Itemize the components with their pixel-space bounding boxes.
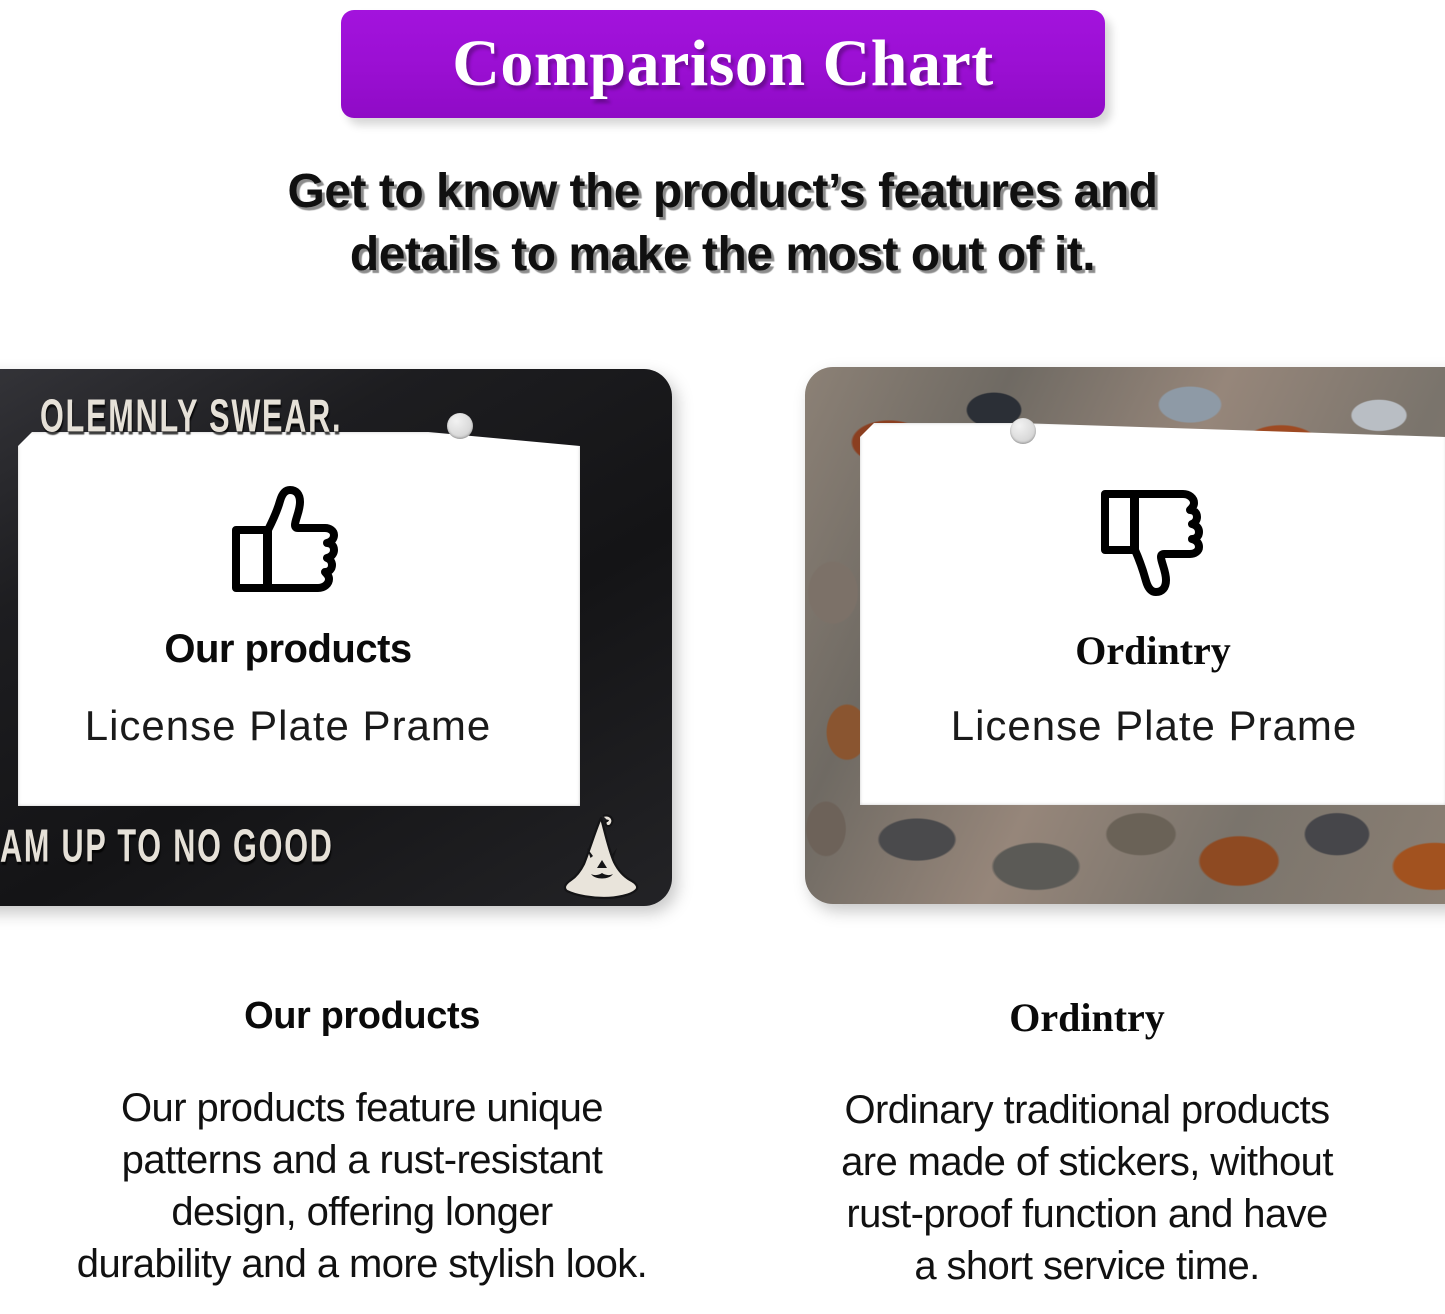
ours-plate-subheading: License Plate Prame — [35, 702, 541, 750]
subtitle-line-2: details to make the most out of it. — [0, 223, 1445, 286]
thumbs-down-icon — [1097, 486, 1209, 598]
comparison-column-ordinary: Ordintry Ordinary traditional products a… — [757, 996, 1417, 1292]
mounting-hole-icon — [1010, 418, 1036, 444]
comparison-body-line: durability and a more stylish look. — [32, 1238, 692, 1290]
comparison-body-line: Ordinary traditional products — [757, 1084, 1417, 1136]
comparison-body-line: rust-proof function and have — [757, 1188, 1417, 1240]
ordinary-plate-subheading: License Plate Prame — [930, 702, 1378, 750]
comparison-column-ours: Our products Our products feature unique… — [32, 996, 692, 1290]
comparison-body-line: are made of stickers, without — [757, 1136, 1417, 1188]
ours-plate-heading: Our products — [60, 627, 516, 672]
comparison-body-line: design, offering longer — [32, 1186, 692, 1238]
comparison-body-ordinary: Ordinary traditional products are made o… — [757, 1084, 1417, 1292]
comparison-heading-ours: Our products — [32, 996, 692, 1038]
comparison-body-ours: Our products feature unique patterns and… — [32, 1082, 692, 1290]
subtitle-line-1: Get to know the product’s features and — [0, 160, 1445, 223]
comparison-body-line: patterns and a rust-resistant — [32, 1134, 692, 1186]
comparison-chart-banner: Comparison Chart — [341, 10, 1105, 118]
comparison-body-line: a short service time. — [757, 1240, 1417, 1292]
page-title: Comparison Chart — [452, 31, 994, 97]
plate-slogan-bottom: AM UP TO NO GOOD — [0, 821, 334, 874]
page-subtitle: Get to know the product’s features and d… — [0, 160, 1445, 287]
comparison-heading-ordinary: Ordintry — [757, 996, 1417, 1040]
plate-slogan-top: OLEMNLY SWEAR. — [40, 391, 342, 444]
thumbs-up-icon — [222, 484, 350, 596]
comparison-body-line: Our products feature unique — [32, 1082, 692, 1134]
witch-hat-icon — [557, 812, 643, 900]
mounting-hole-icon — [447, 413, 473, 439]
ordinary-plate-heading: Ordintry — [935, 627, 1371, 674]
